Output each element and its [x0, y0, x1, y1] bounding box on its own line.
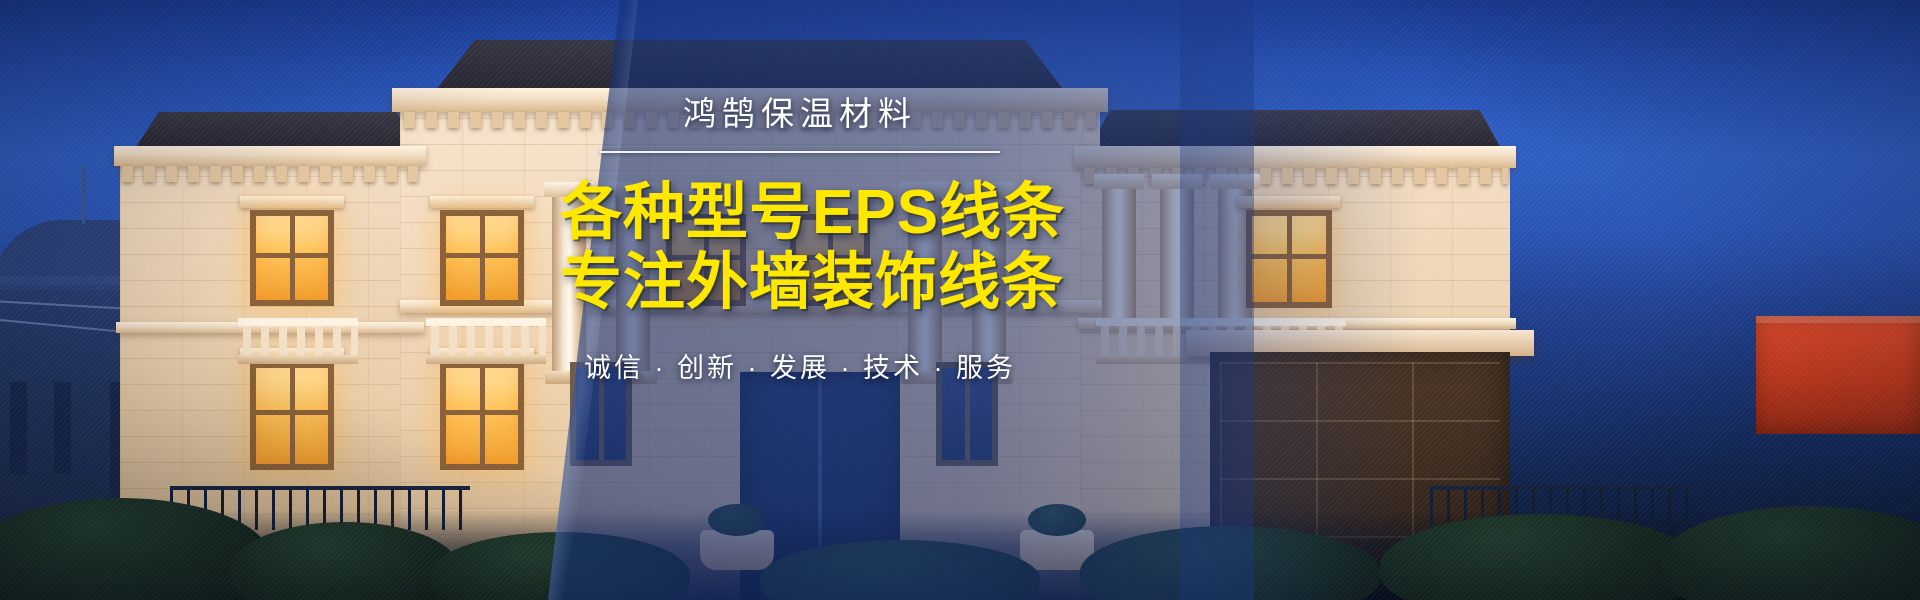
window-hood	[240, 196, 344, 208]
distant-window	[10, 382, 27, 474]
dentil-course	[122, 166, 418, 182]
banner-text-block: 鸿鹄保温材料 各种型号EPS线条 专注外墙装饰线条 诚信 · 创新 · 发展 ·…	[560, 96, 1040, 385]
lit-window	[250, 362, 334, 470]
window-mullion	[290, 368, 295, 464]
title-divider	[600, 151, 1000, 153]
window-mullion	[446, 410, 518, 415]
window-mullion	[480, 216, 485, 300]
headline-line-1: 各种型号EPS线条	[560, 179, 1040, 247]
values-tagline: 诚信 · 创新 · 发展 · 技术 · 服务	[560, 346, 1040, 385]
lit-window	[440, 362, 524, 470]
headline-line-2: 专注外墙装饰线条	[560, 249, 1040, 317]
lit-window	[250, 210, 334, 306]
balcony-balustrade	[238, 318, 358, 364]
promo-banner: 鸿鹄保温材料 各种型号EPS线条 专注外墙装饰线条 诚信 · 创新 · 发展 ·…	[0, 0, 1920, 600]
antenna-mast	[82, 166, 85, 224]
cornice-left-wing	[114, 146, 426, 166]
window-hood	[430, 196, 534, 208]
window-mullion	[256, 253, 328, 258]
distant-window	[54, 382, 71, 474]
window-mullion	[256, 410, 328, 415]
balcony-balustrade	[426, 318, 546, 364]
company-name: 鸿鹄保温材料	[560, 96, 1040, 132]
window-mullion	[290, 216, 295, 300]
red-structure	[1756, 316, 1920, 434]
lit-window	[440, 210, 524, 306]
overlay-fade-right	[1180, 0, 1420, 600]
window-mullion	[480, 368, 485, 464]
window-mullion	[446, 253, 518, 258]
